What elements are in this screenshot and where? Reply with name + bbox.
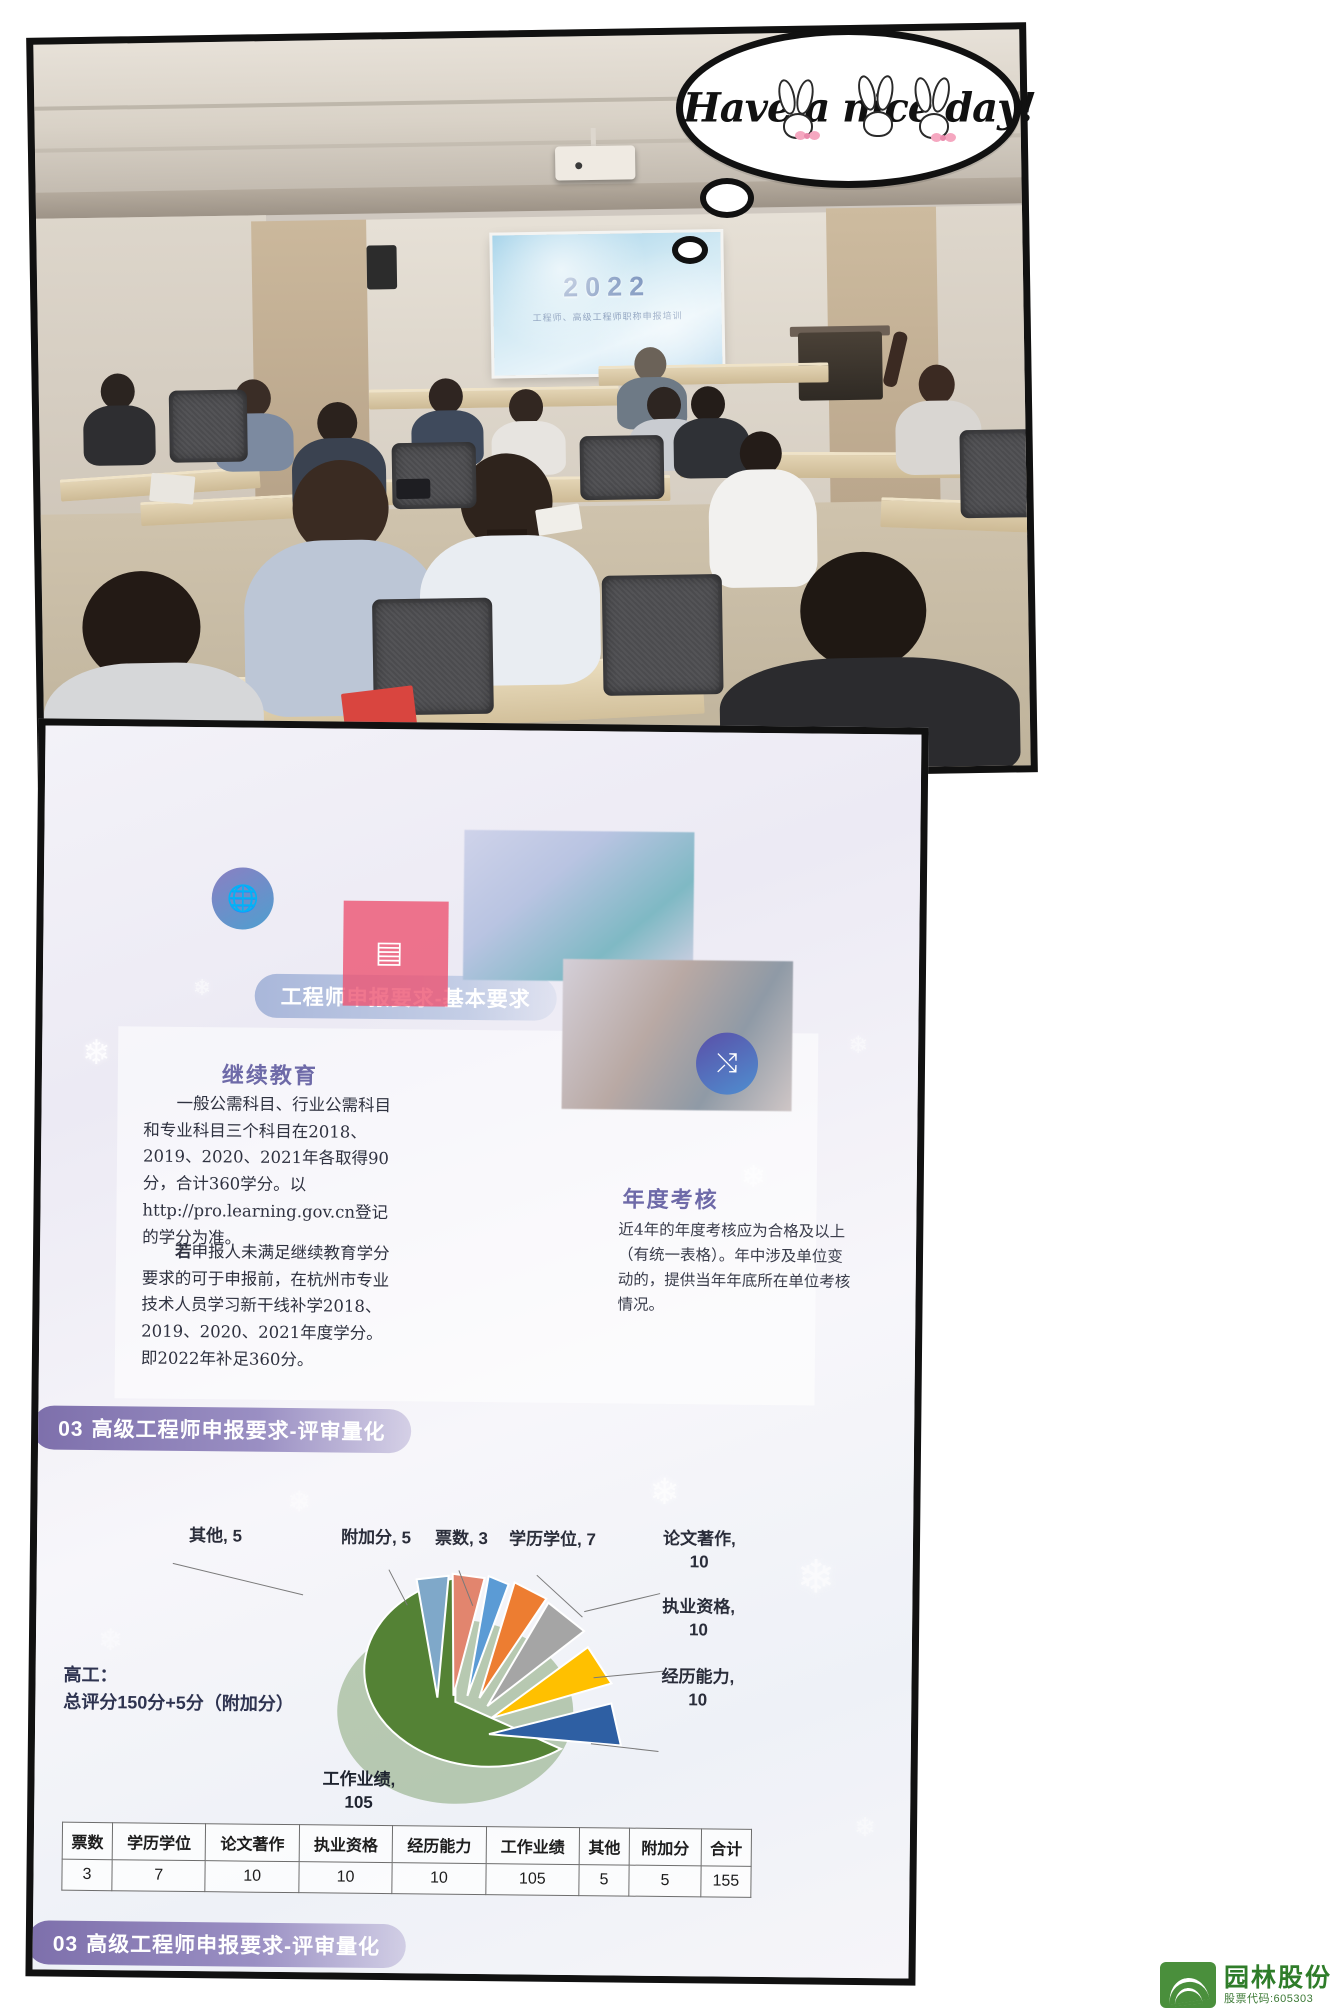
speech-bubble-text: Have a nice day! [683,85,1014,132]
speech-bubble: Have a nice day! [676,28,1021,188]
pie-label-license: 执业资格, 10 [662,1596,735,1643]
table-header-cell: 论文著作 [206,1824,300,1862]
attendee-body [673,418,750,479]
score-table: 票数 学历学位 论文著作 执业资格 经历能力 工作业绩 其他 附加分 合计 3 … [61,1822,752,1898]
chair [579,435,664,500]
pie-label-papers: 论文著作, 10 [663,1528,736,1575]
paragraph2-rest: 申报人未满足继续教育学分要求的可于申报前，在杭州市专业技术人员学习新干线补学20… [141,1242,390,1369]
wall-speaker [366,245,397,289]
paper [149,473,195,505]
slide3-number: 03 [53,1933,79,1956]
table-header-cell: 其他 [579,1828,629,1866]
speech-bubble-tail [700,178,754,218]
stock-code: 股票代码:605303 [1224,1993,1332,2005]
slide3-title: 高级工程师申报要求-评审量化 [86,1933,380,1959]
table-header-cell: 附加分 [629,1828,701,1866]
section1-paragraph-1: 一般公需科目、行业公需科目和专业科目三个科目在2018、2019、2020、20… [142,1090,396,1253]
slide2-title: 高级工程师申报要求-评审量化 [91,1418,385,1444]
table-header-cell: 学历学位 [112,1823,206,1861]
chair [959,429,1030,518]
table-cell: 3 [62,1859,112,1891]
screen-year-text: 2022 [493,270,721,305]
table-header-cell: 工作业绩 [486,1827,580,1865]
pie-label-degree: 学历学位, 7 [509,1528,596,1552]
chair [602,574,724,696]
phone [396,479,430,500]
pie-label-bonus: 附加分, 5 [341,1527,411,1551]
projector-lens [575,162,582,169]
projector [555,145,636,180]
table-row: 3 7 10 10 10 105 5 5 155 [62,1859,751,1897]
pie-label-experience: 经历能力, 10 [661,1666,734,1713]
watermark-logo: 园林股份 股票代码:605303 [1160,1962,1332,2008]
table-cell: 5 [629,1865,701,1897]
speech-bubble-tail [672,236,708,264]
paragraph2-lead: 若 [175,1242,192,1261]
table-cell: 10 [299,1862,393,1894]
chair [392,442,477,509]
globe-icon: 🌐 [211,867,274,930]
section1-paragraph-2: 若申报人未满足继续教育学分要求的可于申报前，在杭州市专业技术人员学习新干线补学2… [141,1238,394,1374]
section-heading-annual-review: 年度考核 [622,1182,718,1215]
screen-subtitle-text: 工程师、高级工程师职称申报培训 [494,308,722,325]
table-cell: 10 [205,1861,299,1893]
table-cell: 155 [701,1866,751,1898]
attendee-body [708,469,818,589]
books-icon: ▤ [365,925,414,979]
table-cell: 5 [579,1865,629,1897]
table-cell: 7 [112,1860,206,1892]
table-header-cell: 票数 [62,1822,112,1860]
bow-icon [931,133,957,145]
shuffle-icon: ⤭ [696,1032,759,1095]
leader-line [173,1563,304,1596]
table-header-cell: 合计 [701,1829,752,1867]
slide2-title-bar: 03高级工程师申报要求-评审量化 [32,1405,412,1453]
bow-icon [795,131,821,143]
table-header-cell: 执业资格 [299,1825,393,1863]
desk [369,386,619,410]
section2-paragraph: 近4年的年度考核应为合格及以上（有统一表格）。年中涉及单位变动的，提供当年年底所… [617,1217,856,1320]
company-logo-icon [1160,1962,1216,2008]
pie-label-other: 其他, 5 [189,1525,242,1548]
chair [169,389,248,462]
decorative-photo-branch [562,959,794,1111]
bunny-doodle-icon [859,75,899,149]
attendee-body [83,405,156,466]
chart-note: 高工： 总评分150分+5分（附加分） [63,1662,294,1718]
snowflake-icon: ❄ [848,1034,868,1058]
pie-label-votes: 票数, 3 [435,1528,488,1551]
snowflake-icon: ❄ [82,1036,111,1070]
slide2-number: 03 [58,1418,84,1441]
slide3-title-bar: 03高级工程师申报要求-评审量化 [27,1920,407,1968]
table-cell: 105 [485,1864,579,1896]
section-heading-continuing-education: 继续教育 [222,1057,318,1090]
chart-note-line1: 高工： [63,1662,294,1691]
table-cell: 10 [392,1863,486,1895]
snowflake-icon: ❄ [193,977,212,999]
pie-label-performance: 工作业绩, 105 [322,1768,395,1815]
chart-note-line2: 总评分150分+5分（附加分） [63,1689,294,1718]
table-header-cell: 经历能力 [392,1826,486,1864]
watermark-text: 园林股份 股票代码:605303 [1224,1965,1332,2005]
slide-photo-panel: ❄ ❄ ❄ ❄ ❄ ❄ ❄ ❄ ❄ ❄ 工程师申报要求-基本要求 继续教育 一般… [25,718,928,1985]
company-name: 园林股份 [1224,1965,1332,1993]
